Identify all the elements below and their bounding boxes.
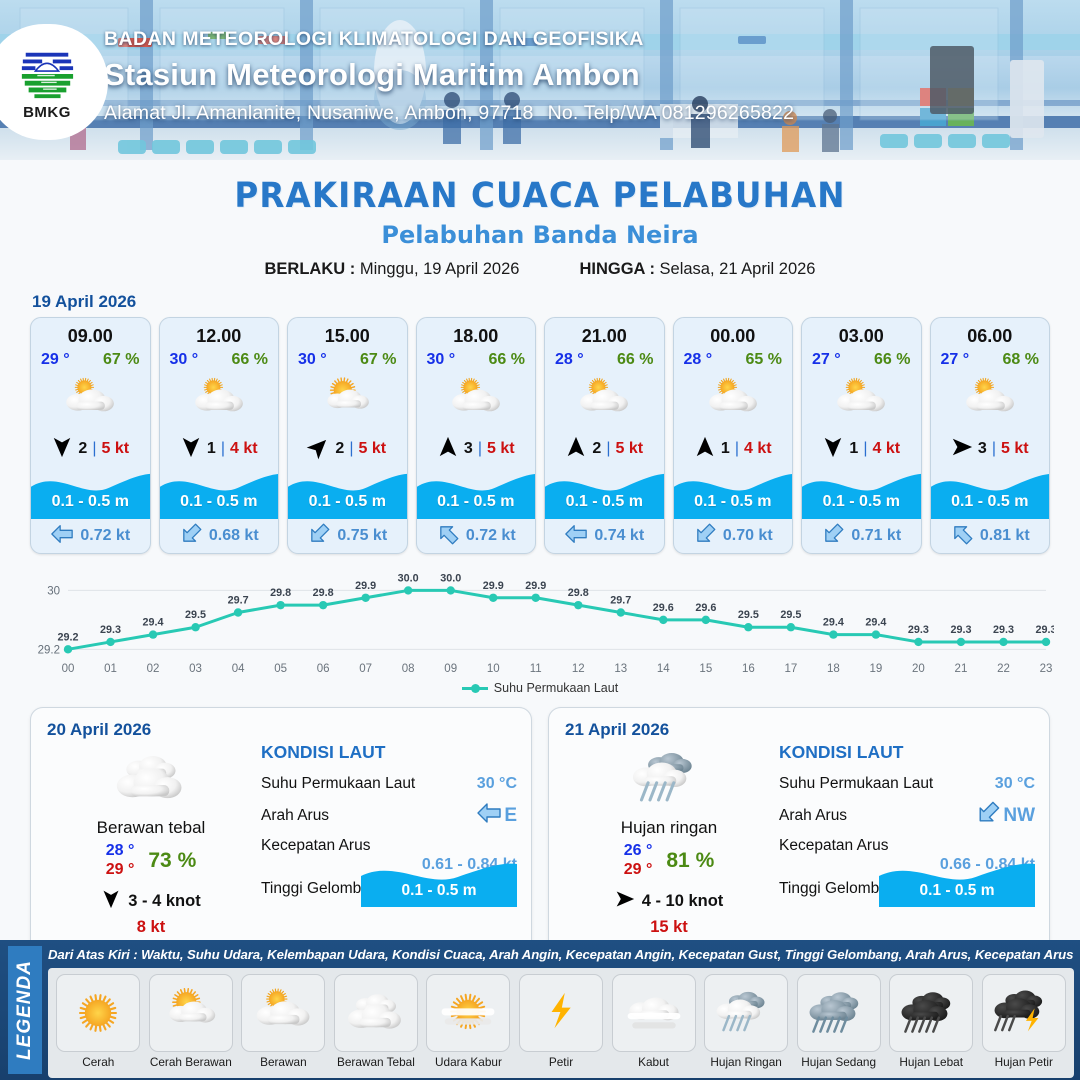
card-temperature: 30 ° [170,351,199,369]
wind-direction-arrow-icon [694,436,716,463]
forecast-day-label: 19 April 2026 [32,292,1080,312]
legend-item-label: Petir [549,1055,573,1069]
card-wave: 0.1 - 0.5 m [545,467,664,519]
svg-text:29.8: 29.8 [270,587,291,599]
panel-temp-humidity: 26 ° 29 ° 81 % [571,842,767,880]
legend-item: Petir [515,974,608,1076]
page-title: PRAKIRAAN CUACA PELABUHAN [38,176,1042,216]
card-current: 0.74 kt [545,519,664,553]
svg-text:29.6: 29.6 [695,602,716,614]
card-gust: 5 kt [487,440,515,458]
svg-text:13: 13 [614,663,627,675]
panel-wind: 4 - 10 knot [571,889,767,914]
wind-separator: | [735,440,739,458]
valid-until: HINGGA : Selasa, 21 April 2026 [579,260,815,279]
svg-text:30.0: 30.0 [398,572,419,584]
panel-wave-graphic: 0.1 - 0.5 m [879,857,1035,907]
card-wind: 1 | 4 kt [802,431,921,467]
svg-text:30.0: 30.0 [440,572,461,584]
current-direction-arrow-icon [50,522,74,551]
card-wave: 0.1 - 0.5 m [931,467,1050,519]
current-speed-label: Kecepatan Arus [779,837,888,855]
card-humidity: 65 % [746,351,782,369]
card-wave: 0.1 - 0.5 m [802,467,921,519]
card-current: 0.75 kt [288,519,407,553]
svg-text:12: 12 [572,663,585,675]
card-temp-humidity: 28 ° 65 % [674,347,793,369]
panel-wave-height-value: 0.1 - 0.5 m [361,882,517,900]
wind-direction-arrow-icon [180,436,202,463]
current-direction-arrow-icon [564,522,588,551]
card-wave-height: 0.1 - 0.5 m [674,493,793,511]
current-direction-label: Arah Arus [261,807,329,825]
svg-text:29.9: 29.9 [355,580,376,592]
card-wave: 0.1 - 0.5 m [288,467,407,519]
svg-text:22: 22 [997,663,1010,675]
card-time: 18.00 [417,318,536,347]
card-humidity: 66 % [617,351,653,369]
forecast-card[interactable]: 21.00 28 ° 66 % 2 | 5 kt [544,317,665,554]
svg-text:30: 30 [47,585,60,597]
valid-from: BERLAKU : Minggu, 19 April 2026 [265,260,520,279]
card-humidity: 67 % [103,351,139,369]
panel-humidity: 81 % [666,849,714,873]
svg-text:10: 10 [487,663,500,675]
svg-text:29.9: 29.9 [483,580,504,592]
legend-item-label: Kabut [638,1055,669,1069]
legend-item: Hujan Petir [977,974,1070,1076]
panel-gust: 15 kt [571,918,767,937]
port-name: Pelabuhan Banda Neira [0,221,1080,249]
card-gust: 5 kt [1001,440,1029,458]
valid-from-value: Minggu, 19 April 2026 [360,260,520,278]
forecast-card[interactable]: 00.00 28 ° 65 % 1 | 4 kt [673,317,794,554]
svg-text:07: 07 [359,663,372,675]
legend-item: Berawan [237,974,330,1076]
card-weather-berawan-icon [674,369,793,431]
card-temperature: 28 ° [684,351,713,369]
card-wave-height: 0.1 - 0.5 m [31,493,150,511]
card-current: 0.72 kt [31,519,150,553]
card-wind-speed: 2 [592,440,601,458]
card-wind: 1 | 4 kt [160,431,279,467]
card-weather-cerah-berawan-icon [288,369,407,431]
validity-range: BERLAKU : Minggu, 19 April 2026 HINGGA :… [0,260,1080,279]
svg-text:20: 20 [912,663,925,675]
legend-icon-list: Cerah Cerah Berawan [48,968,1074,1078]
station-address: Alamat Jl. Amanlanite, Nusaniwe, Ambon, … [104,102,534,124]
svg-text:29.3: 29.3 [993,624,1014,636]
card-time: 15.00 [288,318,407,347]
title-section: PRAKIRAAN CUACA PELABUHAN Pelabuhan Band… [0,176,1080,279]
legend-cerah-icon [56,974,140,1052]
legend-item: Kabut [607,974,700,1076]
legend-item-label: Udara Kabur [435,1055,502,1069]
card-time: 12.00 [160,318,279,347]
wind-separator: | [606,440,610,458]
legend-berawan-tebal-icon [334,974,418,1052]
card-wave-height: 0.1 - 0.5 m [417,493,536,511]
wind-direction-arrow-icon [51,436,73,463]
chart-legend: Suhu Permukaan Laut [0,681,1080,695]
card-gust: 4 kt [872,440,900,458]
legend-title-bar: LEGENDA [8,946,42,1074]
svg-text:11: 11 [530,663,542,675]
sst-label: Suhu Permukaan Laut [261,775,415,793]
svg-text:17: 17 [784,663,797,675]
current-direction-value: NW [1003,805,1035,827]
card-time: 00.00 [674,318,793,347]
card-weather-berawan-icon [802,369,921,431]
card-wind-speed: 2 [78,440,87,458]
card-wave-height: 0.1 - 0.5 m [288,493,407,511]
card-wave-height: 0.1 - 0.5 m [802,493,921,511]
legend-item-label: Hujan Petir [995,1055,1053,1069]
svg-text:29.5: 29.5 [780,609,801,621]
svg-text:19: 19 [870,663,883,675]
panel-temp-max: 29 ° [106,861,135,880]
forecast-card[interactable]: 06.00 27 ° 68 % 3 | 5 kt [930,317,1051,554]
card-temperature: 28 ° [555,351,584,369]
panel-humidity: 73 % [148,849,196,873]
current-direction-label: Arah Arus [779,807,847,825]
card-gust: 5 kt [615,440,643,458]
card-current: 0.68 kt [160,519,279,553]
legend-item: Hujan Lebat [885,974,978,1076]
card-humidity: 67 % [360,351,396,369]
legend-item-label: Berawan Tebal [337,1055,415,1069]
legend-item: Cerah [52,974,145,1076]
svg-text:29.4: 29.4 [823,617,844,629]
panel-sea-conditions: KONDISI LAUT Suhu Permukaan Laut 30 °C A… [261,742,517,903]
agency-name: BADAN METEOROLOGI KLIMATOLOGI DAN GEOFIS… [104,28,794,51]
card-current-speed: 0.75 kt [337,527,387,545]
svg-text:02: 02 [147,663,160,675]
card-time: 21.00 [545,318,664,347]
valid-until-value: Selasa, 21 April 2026 [660,260,816,278]
panel-weather-block: Hujan ringan 26 ° 29 ° 81 % 4 - 10 knot … [571,746,767,937]
chart-legend-marker-icon [462,687,488,690]
svg-text:00: 00 [62,663,75,675]
sea-conditions-title: KONDISI LAUT [261,742,517,763]
card-wind: 3 | 5 kt [931,431,1050,467]
svg-text:14: 14 [657,663,670,675]
card-temp-humidity: 27 ° 66 % [802,347,921,369]
legend-item: Udara Kabur [422,974,515,1076]
card-wave-height: 0.1 - 0.5 m [160,493,279,511]
card-humidity: 66 % [232,351,268,369]
panel-temperatures: 26 ° 29 ° [624,842,653,880]
card-current-speed: 0.72 kt [466,527,516,545]
bmkg-emblem-icon [18,43,76,103]
panel-temp-min: 26 ° [624,842,653,861]
svg-text:21: 21 [955,663,968,675]
daily-summary-row: 20 April 2026 Berawan tebal [0,695,1080,955]
card-current: 0.81 kt [931,519,1050,553]
forecast-card[interactable]: 03.00 27 ° 66 % 1 | 4 kt [801,317,922,554]
current-direction-row: Arah Arus E [261,800,517,831]
panel-temp-humidity: 28 ° 29 ° 73 % [53,842,249,880]
page-header: BMKG BADAN METEOROLOGI KLIMATOLOGI DAN G… [0,0,1080,160]
card-time: 03.00 [802,318,921,347]
svg-text:29.4: 29.4 [143,617,164,629]
panel-temperatures: 28 ° 29 ° [106,842,135,880]
forecast-card[interactable]: 15.00 30 ° 67 % 2 | 5 kt [287,317,408,554]
svg-text:29.3: 29.3 [100,624,121,636]
card-humidity: 66 % [874,351,910,369]
card-temp-humidity: 30 ° 66 % [160,347,279,369]
card-gust: 4 kt [744,440,772,458]
svg-text:29.4: 29.4 [865,617,886,629]
panel-condition: Berawan tebal [53,818,249,838]
legend-item-label: Berawan [260,1055,307,1069]
forecast-card[interactable]: 12.00 30 ° 66 % 1 | 4 kt [159,317,280,554]
card-current-speed: 0.74 kt [594,527,644,545]
svg-text:16: 16 [742,663,755,675]
panel-wind-range: 3 - 4 knot [128,892,200,911]
panel-temp-min: 28 ° [106,842,135,861]
wind-direction-arrow-icon [951,436,973,463]
card-wave-height: 0.1 - 0.5 m [545,493,664,511]
legend-item: Hujan Sedang [792,974,885,1076]
legend-berawan-icon [241,974,325,1052]
panel-temp-max: 29 ° [624,861,653,880]
svg-text:29.9: 29.9 [525,580,546,592]
panel-weather-block: Berawan tebal 28 ° 29 ° 73 % 3 - 4 knot … [53,746,249,937]
card-current-speed: 0.71 kt [851,527,901,545]
legend-item-label: Cerah Berawan [150,1055,232,1069]
card-wind: 3 | 5 kt [417,431,536,467]
svg-text:29.8: 29.8 [313,587,334,599]
card-weather-berawan-icon [931,369,1050,431]
current-direction-arrow-icon [436,522,460,551]
current-direction-arrow-icon [693,522,717,551]
legend-item: Berawan Tebal [330,974,423,1076]
svg-text:29.6: 29.6 [653,602,674,614]
sst-chart-svg: 3029.229.20029.30129.40229.50329.70429.8… [26,564,1054,679]
card-temp-humidity: 29 ° 67 % [31,347,150,369]
card-temp-humidity: 27 ° 68 % [931,347,1050,369]
svg-text:29.5: 29.5 [738,609,759,621]
card-temperature: 29 ° [41,351,70,369]
svg-text:29.7: 29.7 [610,595,631,607]
card-wave-height: 0.1 - 0.5 m [931,493,1050,511]
svg-text:01: 01 [104,663,117,675]
card-temp-humidity: 30 ° 66 % [417,347,536,369]
panel-wave-height-value: 0.1 - 0.5 m [879,882,1035,900]
legend-hujan-petir-icon [982,974,1066,1052]
card-humidity: 68 % [1003,351,1039,369]
bmkg-logo-text: BMKG [23,104,71,121]
svg-text:09: 09 [444,663,457,675]
card-wind-speed: 1 [207,440,216,458]
legend-petir-icon [519,974,603,1052]
card-wind: 2 | 5 kt [31,431,150,467]
wind-direction-arrow-icon [565,436,587,463]
card-temp-humidity: 30 ° 67 % [288,347,407,369]
panel-wind-range: 4 - 10 knot [642,892,724,911]
sst-row: Suhu Permukaan Laut 30 °C [261,769,517,798]
legend-hujan-sedang-icon [797,974,881,1052]
card-wind-speed: 2 [335,440,344,458]
panel-wind-direction-arrow-icon [615,889,635,914]
current-direction-value-group: NW [975,800,1035,831]
card-wind-speed: 3 [464,440,473,458]
card-current-speed: 0.81 kt [980,527,1030,545]
panel-weather-berawan-tebal-icon [53,746,249,812]
panel-wave-graphic: 0.1 - 0.5 m [361,857,517,907]
legend-cerah-berawan-icon [149,974,233,1052]
card-wave: 0.1 - 0.5 m [417,467,536,519]
panel-sea-conditions: KONDISI LAUT Suhu Permukaan Laut 30 °C A… [779,742,1035,903]
card-temperature: 30 ° [427,351,456,369]
card-current: 0.72 kt [417,519,536,553]
svg-text:29.8: 29.8 [568,587,589,599]
card-current: 0.71 kt [802,519,921,553]
legend-item: Cerah Berawan [145,974,238,1076]
panel-date: 20 April 2026 [47,720,515,740]
wind-separator: | [863,440,867,458]
legend-item-label: Hujan Lebat [899,1055,963,1069]
legend-item-label: Hujan Sedang [801,1055,876,1069]
card-humidity: 66 % [489,351,525,369]
legend-title: LEGENDA [14,960,36,1060]
svg-text:29.5: 29.5 [185,609,206,621]
card-wave: 0.1 - 0.5 m [160,467,279,519]
svg-text:08: 08 [402,663,415,675]
card-weather-berawan-icon [31,369,150,431]
current-direction-value: E [504,805,517,827]
svg-text:29.2: 29.2 [57,631,78,643]
svg-text:06: 06 [317,663,330,675]
current-speed-label: Kecepatan Arus [261,837,370,855]
svg-text:04: 04 [232,663,245,675]
card-current-speed: 0.68 kt [209,527,259,545]
legend-caption: Dari Atas Kiri : Waktu, Suhu Udara, Kele… [48,947,1076,962]
panel-wind-direction-arrow-icon [101,889,121,914]
current-direction-row: Arah Arus NW [779,800,1035,831]
current-direction-arrow-icon [476,800,502,831]
card-gust: 5 kt [358,440,386,458]
svg-text:05: 05 [274,663,287,675]
hourly-forecast-row: 09.00 29 ° 67 % 2 | 5 kt [0,317,1080,554]
svg-text:03: 03 [189,663,202,675]
card-current-speed: 0.72 kt [80,527,130,545]
legend-kabut-icon [612,974,696,1052]
legend-hujan-ringan-icon [704,974,788,1052]
card-weather-berawan-icon [417,369,536,431]
panel-gust: 8 kt [53,918,249,937]
legend-item-label: Hujan Ringan [710,1055,781,1069]
wind-direction-arrow-icon [437,436,459,463]
card-weather-berawan-icon [545,369,664,431]
card-temp-humidity: 28 ° 66 % [545,347,664,369]
valid-until-label: HINGGA : [579,260,654,278]
card-temperature: 27 ° [812,351,841,369]
legend-udara-kabur-icon [426,974,510,1052]
header-text-block: BADAN METEOROLOGI KLIMATOLOGI DAN GEOFIS… [104,28,794,125]
wind-separator: | [221,440,225,458]
current-direction-value-group: E [476,800,517,831]
daily-summary-panel[interactable]: 21 April 2026 Hujan ringan [548,707,1050,955]
card-time: 06.00 [931,318,1050,347]
legend-hujan-lebat-icon [889,974,973,1052]
station-phone: No. Telp/WA 081296265822 [548,102,795,124]
station-name: Stasiun Meteorologi Maritim Ambon [104,57,794,93]
sst-value: 30 °C [995,775,1035,793]
sst-row: Suhu Permukaan Laut 30 °C [779,769,1035,798]
svg-text:29.3: 29.3 [908,624,929,636]
wind-separator: | [349,440,353,458]
svg-text:29.7: 29.7 [228,595,249,607]
card-wave: 0.1 - 0.5 m [31,467,150,519]
card-wind: 2 | 5 kt [288,431,407,467]
station-contact: Alamat Jl. Amanlanite, Nusaniwe, Ambon, … [104,102,794,125]
panel-condition: Hujan ringan [571,818,767,838]
wind-separator: | [992,440,996,458]
card-gust: 5 kt [101,440,129,458]
card-current: 0.70 kt [674,519,793,553]
svg-text:15: 15 [699,663,712,675]
current-direction-arrow-icon [821,522,845,551]
svg-text:29.2: 29.2 [38,644,60,656]
valid-from-label: BERLAKU : [265,260,356,278]
card-weather-berawan-icon [160,369,279,431]
current-direction-arrow-icon [975,800,1001,831]
card-wind: 1 | 4 kt [674,431,793,467]
sst-value: 30 °C [477,775,517,793]
svg-text:29.3: 29.3 [1035,624,1054,636]
card-wind-speed: 1 [849,440,858,458]
card-wind-speed: 1 [721,440,730,458]
sst-chart: 3029.229.20029.30129.40229.50329.70429.8… [26,564,1054,679]
card-temperature: 30 ° [298,351,327,369]
card-temperature: 27 ° [941,351,970,369]
forecast-card[interactable]: 18.00 30 ° 66 % 3 | 5 kt [416,317,537,554]
card-time: 09.00 [31,318,150,347]
wind-direction-arrow-icon [308,436,330,463]
legend-item: Hujan Ringan [700,974,793,1076]
legend-footer: LEGENDA Dari Atas Kiri : Waktu, Suhu Uda… [0,940,1080,1080]
svg-text:29.3: 29.3 [950,624,971,636]
wind-separator: | [478,440,482,458]
sst-label: Suhu Permukaan Laut [779,775,933,793]
panel-wind: 3 - 4 knot [53,889,249,914]
current-direction-arrow-icon [307,522,331,551]
current-direction-arrow-icon [179,522,203,551]
card-current-speed: 0.70 kt [723,527,773,545]
card-gust: 4 kt [230,440,258,458]
card-wind: 2 | 5 kt [545,431,664,467]
panel-date: 21 April 2026 [565,720,1033,740]
daily-summary-panel[interactable]: 20 April 2026 Berawan tebal [30,707,532,955]
current-direction-arrow-icon [950,522,974,551]
chart-legend-label: Suhu Permukaan Laut [494,681,618,695]
svg-text:23: 23 [1040,663,1053,675]
panel-weather-hujan-ringan-icon [571,746,767,812]
forecast-card[interactable]: 09.00 29 ° 67 % 2 | 5 kt [30,317,151,554]
svg-text:18: 18 [827,663,840,675]
wind-separator: | [92,440,96,458]
legend-item-label: Cerah [82,1055,114,1069]
card-wave: 0.1 - 0.5 m [674,467,793,519]
sea-conditions-title: KONDISI LAUT [779,742,1035,763]
card-wind-speed: 3 [978,440,987,458]
wind-direction-arrow-icon [822,436,844,463]
